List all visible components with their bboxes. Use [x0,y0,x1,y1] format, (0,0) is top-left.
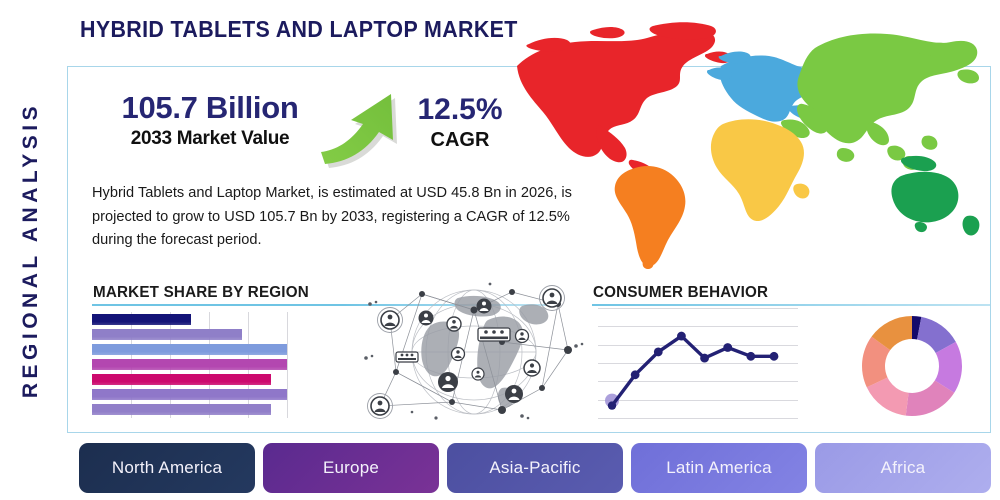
line-chart-marker [654,348,663,357]
consumer-segment-donut-chart [858,312,966,420]
bar-chart-bar [92,314,191,325]
bar-chart-bar [92,404,271,415]
global-network-globe-icon [362,276,587,428]
line-chart-marker [608,401,616,409]
market-value-caption: 2033 Market Value [95,128,325,150]
line-chart-marker [677,332,686,341]
market-value-block: 105.7 Billion 2033 Market Value [95,92,325,150]
line-chart-series [598,308,798,418]
bar-fill [92,359,287,370]
line-chart-marker [723,343,732,352]
bar-fill [92,389,287,400]
bar-fill [92,374,271,385]
bar-chart-bar [92,389,287,400]
region-button-africa[interactable]: Africa [815,443,991,493]
line-chart-marker [770,352,779,361]
donut-chart-svg [858,312,966,420]
region-nav-bar: North AmericaEuropeAsia-PacificLatin Ame… [79,443,991,493]
line-chart-marker [631,370,640,379]
bar-chart-bar [92,329,242,340]
bar-fill [92,329,242,340]
region-button-north-america[interactable]: North America [79,443,255,493]
line-chart-marker [700,354,709,363]
market-share-bar-chart [92,312,287,418]
kpi-row: 105.7 Billion 2033 Market Value 12.5% CA… [95,92,515,172]
world-map-icon [505,8,995,270]
line-chart-gridline [598,418,798,419]
region-button-asia-pacific[interactable]: Asia-Pacific [447,443,623,493]
infographic-root: REGIONAL ANALYSIS HYBRID TABLETS AND LAP… [0,0,1000,500]
bar-chart-bar [92,359,287,370]
consumer-behavior-header: CONSUMER BEHAVIOR [593,284,768,302]
bar-fill [92,404,271,415]
bar-fill [92,314,191,325]
region-button-label: Africa [881,458,926,478]
consumer-behavior-line-chart [598,308,798,418]
region-button-europe[interactable]: Europe [263,443,439,493]
market-value: 105.7 Billion [95,92,325,125]
region-button-latin-america[interactable]: Latin America [631,443,807,493]
market-share-header: MARKET SHARE BY REGION [93,284,309,302]
regional-analysis-side-label: REGIONAL ANALYSIS [8,70,54,430]
bar-fill [92,344,287,355]
region-button-label: Latin America [666,458,772,478]
region-button-label: Europe [323,458,379,478]
bar-chart-bar [92,344,287,355]
side-label-text: REGIONAL ANALYSIS [19,102,43,398]
bar-chart-gridline [287,312,288,418]
region-button-label: Asia-Pacific [489,458,580,478]
consumer-behavior-header-rule [592,304,990,306]
line-chart-marker [746,352,755,361]
page-title: HYBRID TABLETS AND LAPTOP MARKET [80,16,518,43]
bar-chart-bar [92,374,271,385]
region-button-label: North America [112,458,222,478]
growth-arrow-icon [317,86,407,168]
